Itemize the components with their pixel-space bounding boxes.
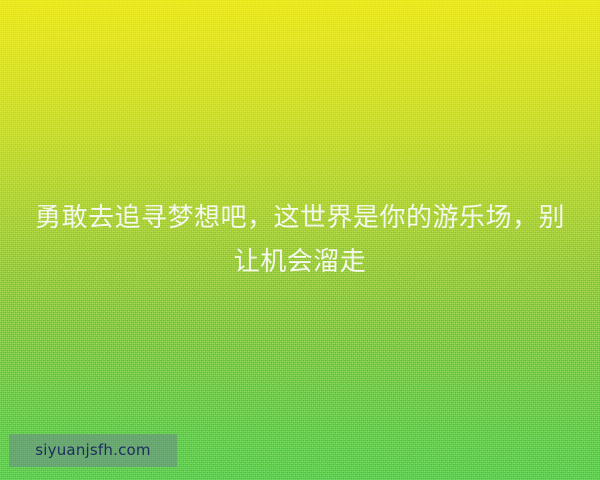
quote-block: 勇敢去追寻梦想吧，这世界是你的游乐场，别让机会溜走	[0, 196, 600, 284]
watermark-badge: siyuanjsfh.com	[9, 434, 177, 467]
quote-text: 勇敢去追寻梦想吧，这世界是你的游乐场，别让机会溜走	[26, 196, 574, 284]
quote-image-canvas: 勇敢去追寻梦想吧，这世界是你的游乐场，别让机会溜走 siyuanjsfh.com	[0, 0, 600, 480]
watermark-label: siyuanjsfh.com	[35, 443, 150, 458]
